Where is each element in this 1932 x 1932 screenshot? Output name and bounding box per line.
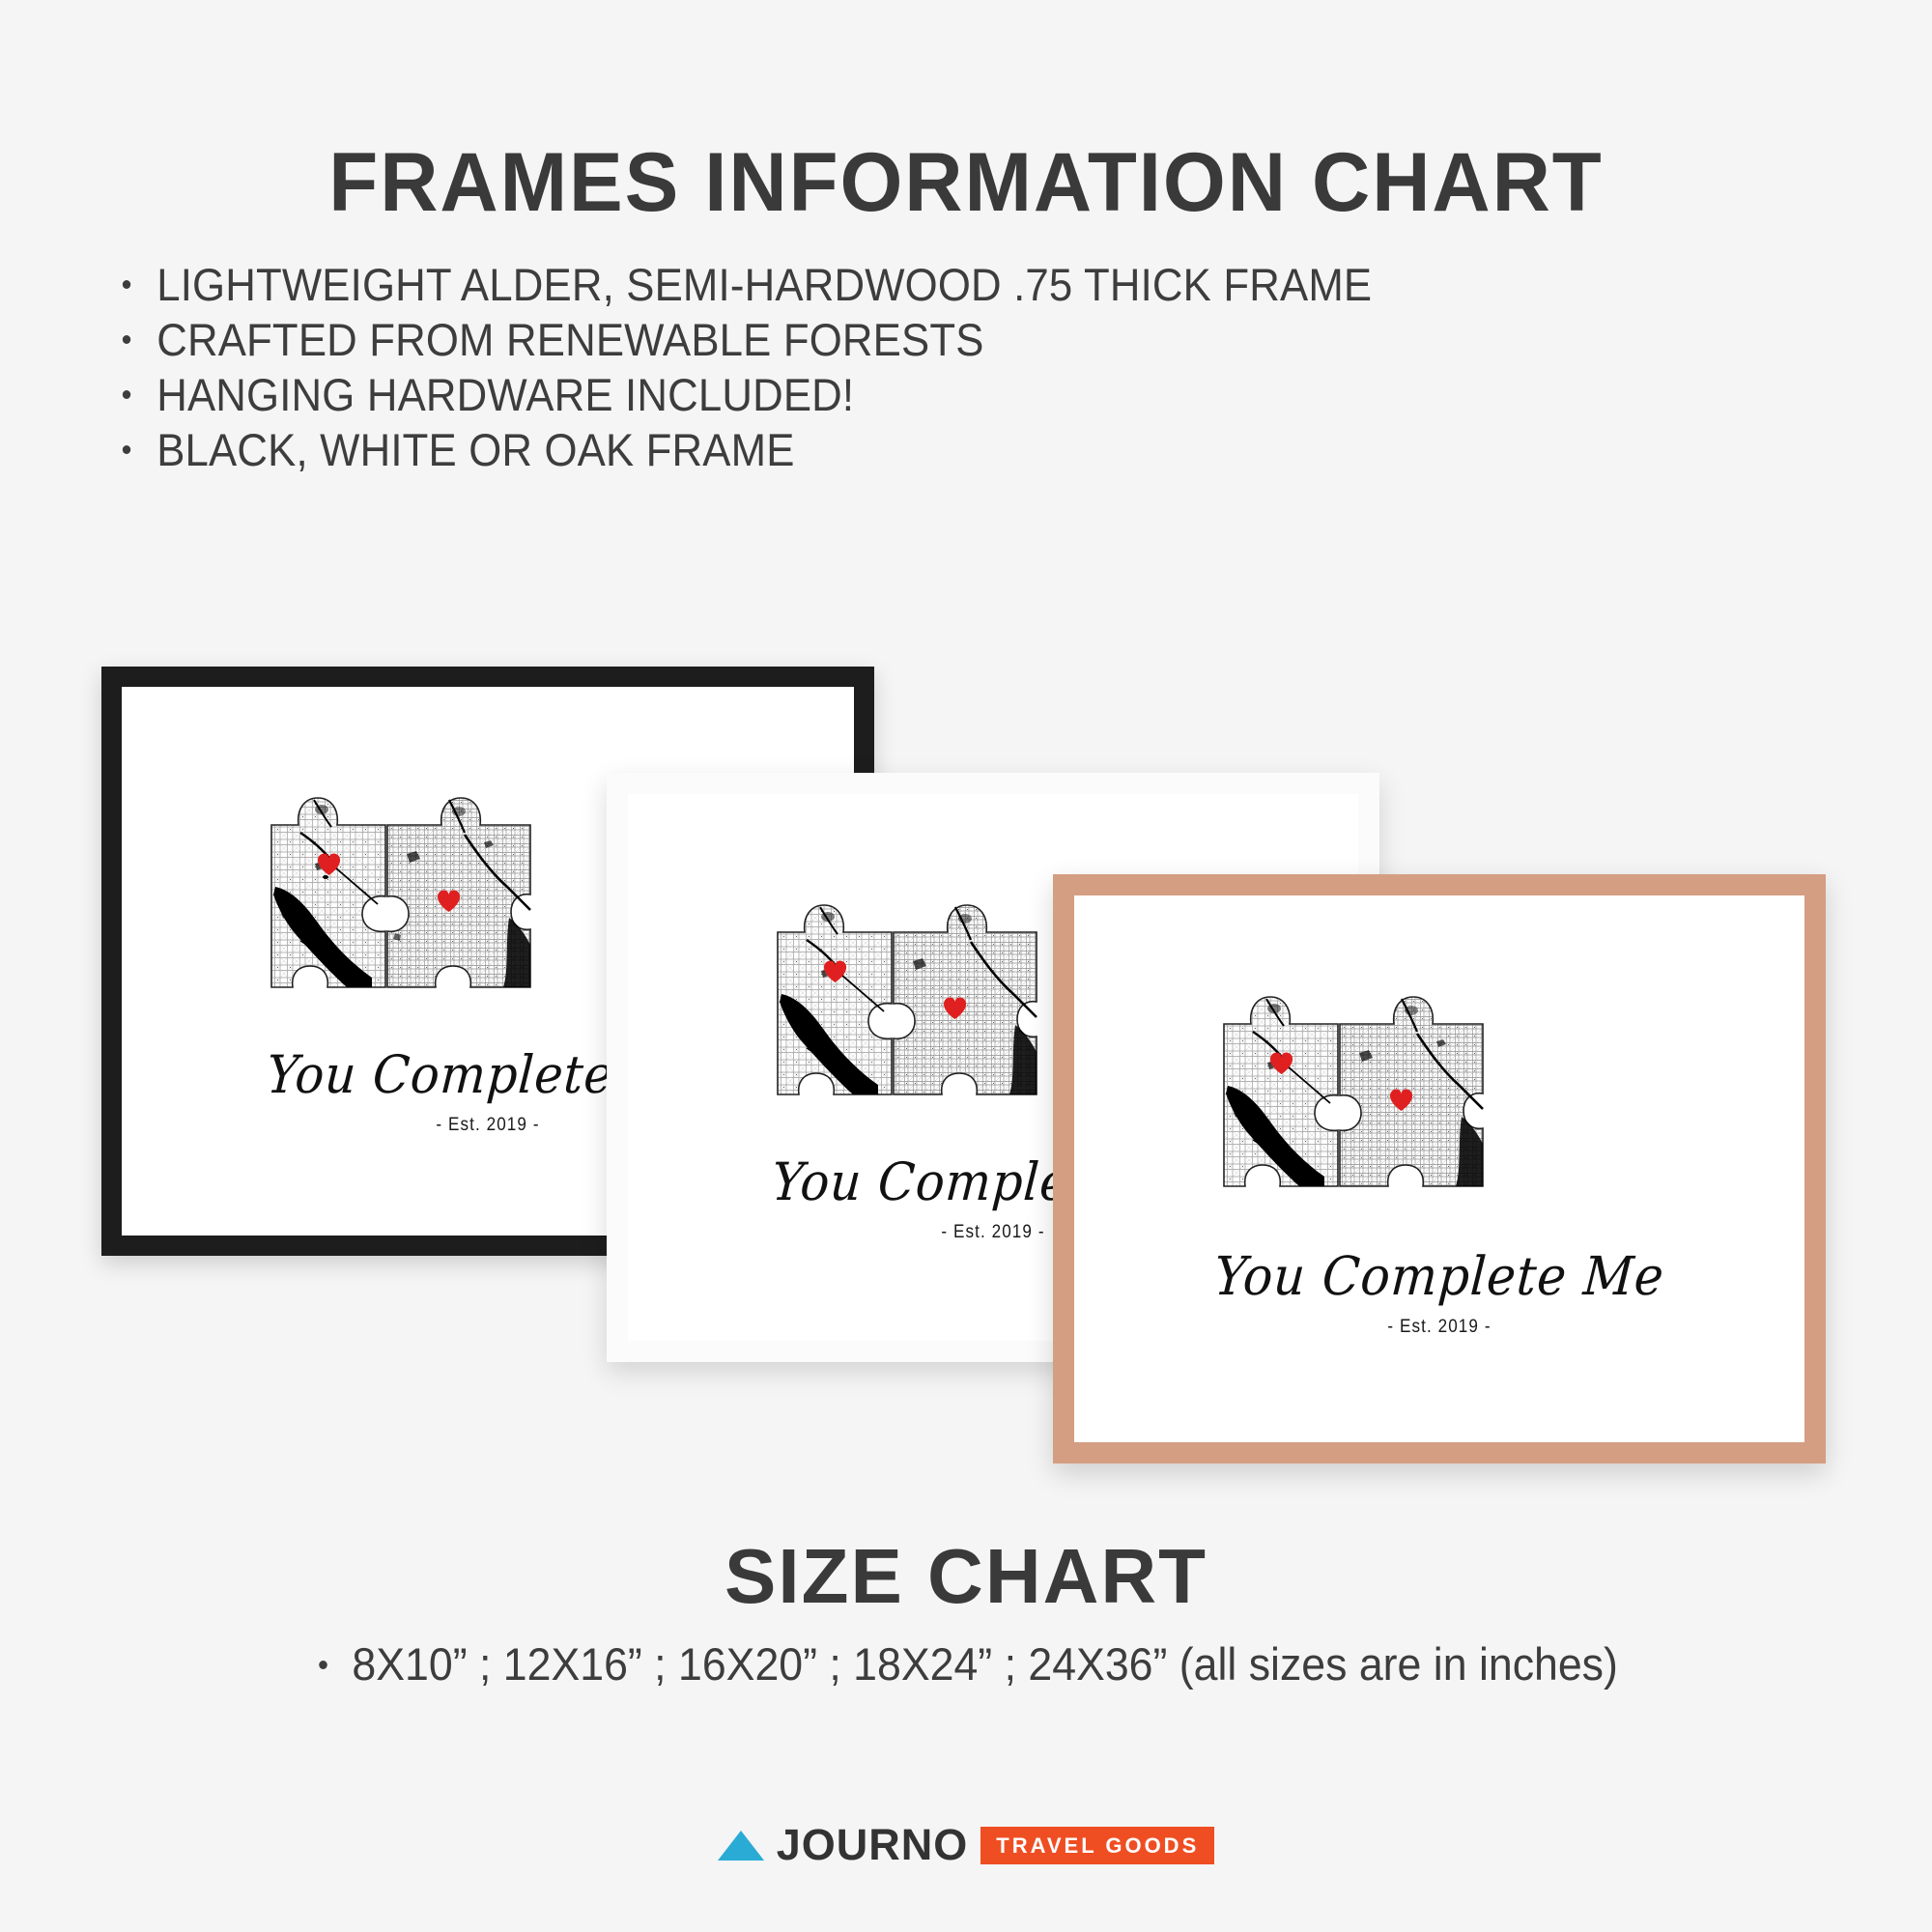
page-title: FRAMES INFORMATION CHART: [29, 135, 1903, 231]
artwork-est-text: - Est. 2019 -: [1111, 1317, 1768, 1338]
size-chart-line: 8X10” ; 12X16” ; 16X20” ; 18X24” ; 24X36…: [353, 1638, 1618, 1690]
feature-text: CRAFTED FROM RENEWABLE FORESTS: [156, 314, 983, 365]
triangle-icon: [718, 1831, 764, 1861]
list-item: LIGHTWEIGHT ALDER, SEMI-HARDWOOD .75 THI…: [121, 257, 1648, 312]
list-item: HANGING HARDWARE INCLUDED!: [121, 367, 1648, 422]
bullet-dot-icon: [123, 445, 130, 454]
brand-tagline-badge: TRAVEL GOODS: [980, 1827, 1214, 1864]
feature-text: LIGHTWEIGHT ALDER, SEMI-HARDWOOD .75 THI…: [156, 259, 1372, 310]
features-list: LIGHTWEIGHT ALDER, SEMI-HARDWOOD .75 THI…: [121, 257, 1763, 477]
size-chart-list: 8X10” ; 12X16” ; 16X20” ; 18X24” ; 24X36…: [0, 1635, 1932, 1693]
bullet-dot-icon: [123, 335, 130, 344]
frame-preview-oak[interactable]: You Complete Me - Est. 2019 -: [1053, 874, 1826, 1463]
list-item: CRAFTED FROM RENEWABLE FORESTS: [121, 312, 1648, 367]
feature-text: BLACK, WHITE OR OAK FRAME: [156, 424, 794, 475]
brand-name: JOURNO: [777, 1820, 969, 1870]
list-item: BLACK, WHITE OR OAK FRAME: [121, 422, 1648, 477]
artwork-oak: You Complete Me - Est. 2019 -: [1074, 895, 1804, 1442]
list-item: 8X10” ; 12X16” ; 16X20” ; 18X24” ; 24X36…: [314, 1635, 1618, 1693]
artwork-script-text: You Complete Me: [1101, 1245, 1777, 1307]
bullet-dot-icon: [123, 280, 130, 289]
size-chart-title: SIZE CHART: [0, 1532, 1932, 1621]
brand-logo[interactable]: JOURNO TRAVEL GOODS: [0, 1820, 1932, 1870]
bullet-dot-icon: [320, 1661, 328, 1669]
puzzle-map-art: [1074, 895, 1804, 1442]
poster-canvas: FRAMES INFORMATION CHART LIGHTWEIGHT ALD…: [0, 0, 1932, 1932]
feature-text: HANGING HARDWARE INCLUDED!: [156, 369, 854, 420]
bullet-dot-icon: [123, 390, 130, 399]
